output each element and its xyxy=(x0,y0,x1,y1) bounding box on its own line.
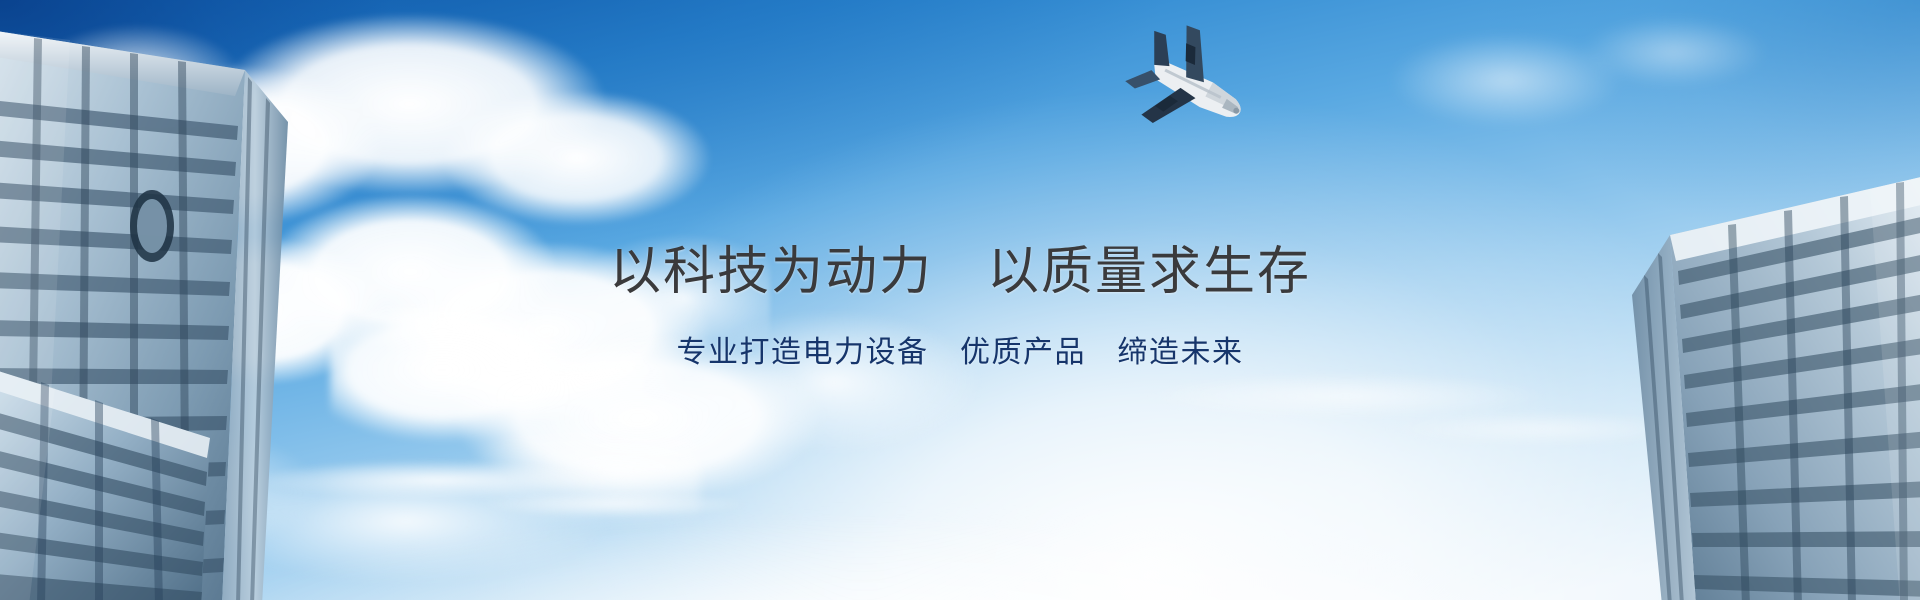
office-building-icon-right xyxy=(1600,175,1920,600)
airplane-icon xyxy=(1095,8,1275,168)
banner-text-block: 以科技为动力 以质量求生存 专业打造电力设备 优质产品 缔造未来 xyxy=(0,246,1920,368)
office-building-icon-left-lower xyxy=(0,330,245,600)
cloud-icon-right-top xyxy=(1380,0,1800,180)
hero-banner: 以科技为动力 以质量求生存 专业打造电力设备 优质产品 缔造未来 xyxy=(0,0,1920,600)
banner-subtitle: 专业打造电力设备 优质产品 缔造未来 xyxy=(677,338,1244,368)
banner-headline: 以科技为动力 以质量求生存 xyxy=(609,246,1311,298)
